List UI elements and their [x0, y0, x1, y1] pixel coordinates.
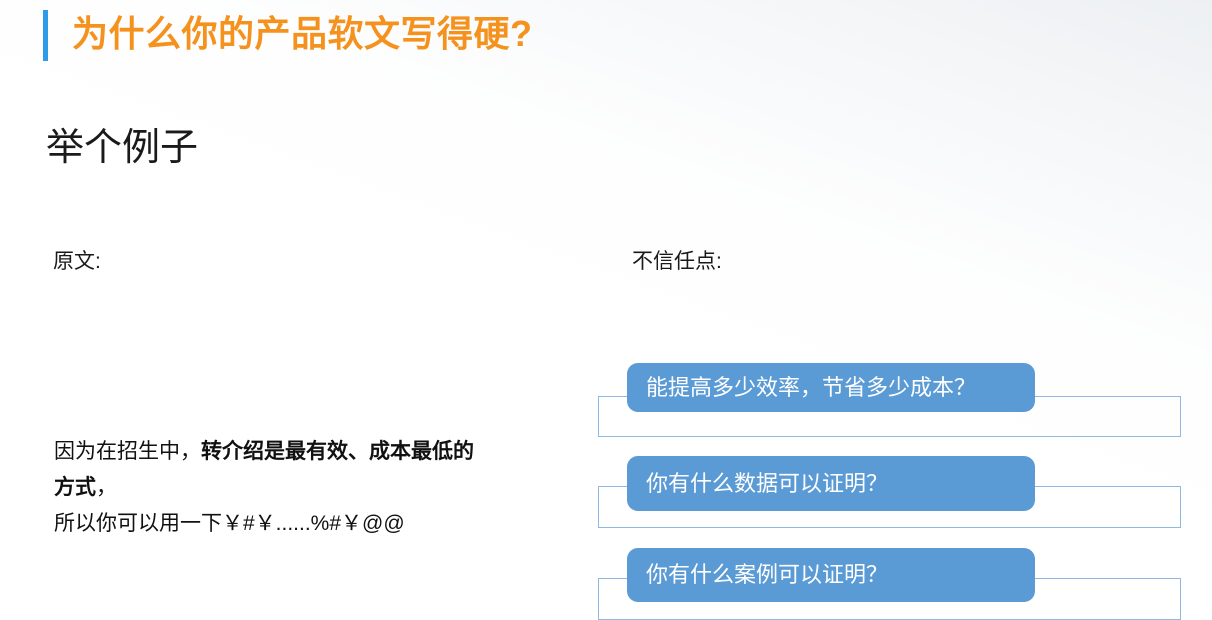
label-original-text: 原文: — [53, 247, 101, 277]
original-text-line1-suffix: ， — [96, 476, 117, 499]
distrust-point-callout[interactable]: 你有什么案例可以证明？ — [627, 548, 1035, 602]
slide-title-row: 为什么你的产品软文写得硬? — [0, 0, 1212, 75]
distrust-point-callout[interactable]: 能提高多少效率，节省多少成本？ — [627, 363, 1035, 412]
original-text-block: 因为在招生中，转介绍是最有效、成本最低的方式， 所以你可以用一下￥#￥.....… — [54, 434, 494, 542]
slide-canvas: 为什么你的产品软文写得硬? 举个例子 原文: 不信任点: 因为在招生中，转介绍是… — [0, 0, 1212, 615]
section-heading: 举个例子 — [46, 123, 198, 173]
distrust-point-label: 你有什么案例可以证明？ — [627, 560, 888, 590]
title-accent-bar — [43, 10, 48, 61]
page-title: 为什么你的产品软文写得硬? — [72, 6, 533, 62]
distrust-point-label: 能提高多少效率，节省多少成本？ — [627, 373, 976, 403]
distrust-point-callout[interactable]: 你有什么数据可以证明？ — [627, 456, 1035, 511]
original-text-line1-prefix: 因为在招生中， — [54, 440, 201, 463]
distrust-point-label: 你有什么数据可以证明？ — [627, 469, 888, 499]
label-distrust-points: 不信任点: — [632, 247, 722, 277]
original-text-line2: 所以你可以用一下￥#￥......%#￥@@ — [54, 506, 494, 542]
